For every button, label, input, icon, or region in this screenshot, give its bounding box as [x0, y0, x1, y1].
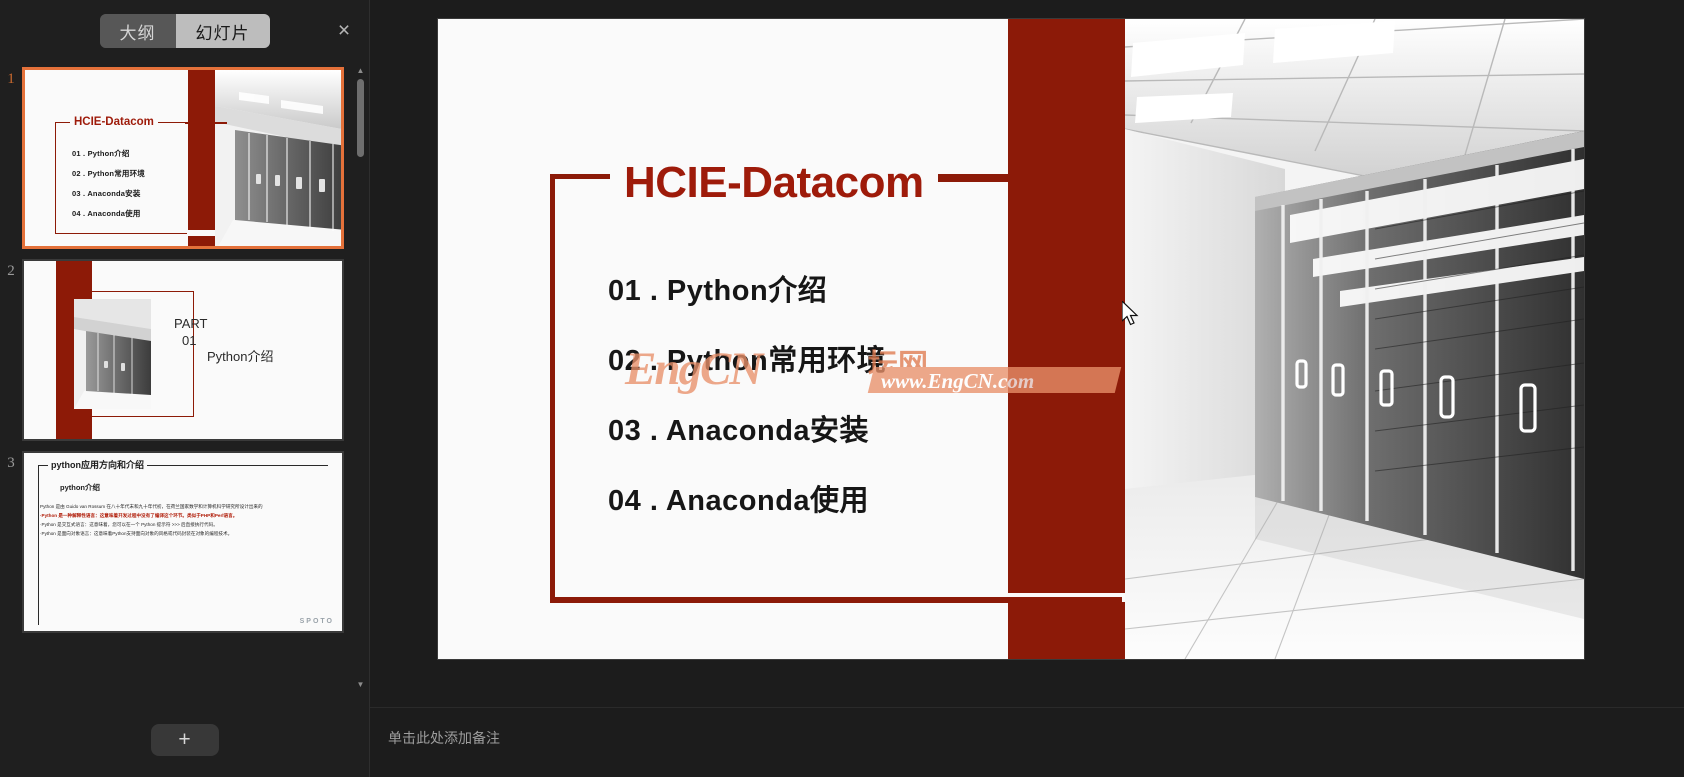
add-slide-button[interactable]: +: [151, 724, 219, 756]
accent-band: [188, 70, 215, 230]
slide-editor-area: HCIE-Datacom 01 . Python介绍 02 . Python常用…: [370, 0, 1684, 777]
scroll-down-icon[interactable]: ▼: [356, 680, 365, 689]
thumbnail-scrollbar[interactable]: ▲ ▼: [356, 66, 365, 689]
notes-pane[interactable]: 单击此处添加备注: [370, 707, 1684, 777]
notes-placeholder[interactable]: 单击此处添加备注: [388, 728, 500, 748]
thumb-agenda-item: 03 . Anaconda安装: [72, 188, 145, 199]
server-room-photo: [1125, 19, 1584, 659]
presentation-editor: 大纲 幻灯片 × 1: [0, 0, 1684, 777]
tab-slides[interactable]: 幻灯片: [176, 14, 270, 48]
thumb-agenda-item: 01 . Python介绍: [72, 148, 145, 159]
close-icon[interactable]: ×: [332, 20, 356, 44]
accent-band-lower: [188, 236, 215, 249]
agenda-item-4[interactable]: 04 . Anaconda使用: [608, 477, 886, 519]
panel-header: 大纲 幻灯片 ×: [0, 0, 369, 62]
thumb-subtitle-3: python介绍: [60, 482, 100, 493]
accent-band-top: [1008, 19, 1125, 593]
slide-preview-2[interactable]: PART 01 Python介绍: [22, 259, 344, 441]
title-rule: [159, 465, 327, 466]
scroll-up-icon[interactable]: ▲: [356, 66, 365, 75]
thumb-title-1: HCIE-Datacom: [70, 116, 158, 128]
thumb-part-subtitle: Python介绍: [207, 346, 273, 365]
agenda-item-1[interactable]: 01 . Python介绍: [608, 267, 886, 309]
title-rule: [925, 177, 1025, 182]
scrollbar-thumb[interactable]: [357, 79, 364, 157]
thumb-agenda-item: 04 . Anaconda使用: [72, 208, 145, 219]
thumb-body-3: Python 是由 Guido van Rossum 在八十年代末和九十年代初，…: [40, 503, 336, 539]
thumb-part-number: 01: [182, 333, 196, 348]
agenda-list[interactable]: 01 . Python介绍 02 . Python常用环境 03 . Anaco…: [608, 267, 886, 547]
slide-preview-1[interactable]: HCIE-Datacom 01 . Python介绍 02 . Python常用…: [22, 67, 344, 249]
server-room-photo-thumb: [215, 70, 344, 249]
add-slide-area: +: [0, 702, 369, 777]
slide-number-3: 3: [0, 451, 22, 472]
server-room-photo-thumb: [74, 299, 151, 409]
tab-outline[interactable]: 大纲: [100, 14, 176, 48]
slide-canvas[interactable]: HCIE-Datacom 01 . Python介绍 02 . Python常用…: [438, 19, 1584, 659]
slide-panel: 大纲 幻灯片 × 1: [0, 0, 370, 777]
thumb-paragraph: ·Python 是交互式语言：这意味着，您可以在一个 Python 提示符 >>…: [40, 521, 336, 528]
agenda-item-3[interactable]: 03 . Anaconda安装: [608, 407, 886, 449]
thumb-agenda-1: 01 . Python介绍 02 . Python常用环境 03 . Anaco…: [72, 148, 145, 228]
slide-thumbnail-1[interactable]: 1: [0, 62, 369, 254]
brand-logo: SPOTO: [300, 618, 334, 625]
view-mode-toggle[interactable]: 大纲 幻灯片: [100, 14, 270, 48]
slide-number-2: 2: [0, 259, 22, 280]
accent-band-bottom: [1008, 602, 1125, 659]
title-rule: [185, 122, 227, 124]
thumb-agenda-item: 02 . Python常用环境: [72, 168, 145, 179]
agenda-item-2[interactable]: 02 . Python常用环境: [608, 337, 886, 379]
slide-title[interactable]: HCIE-Datacom: [610, 158, 938, 208]
slide-thumbnail-3[interactable]: 3 python应用方向和介绍 python介绍 Python 是由 Guido…: [0, 446, 369, 638]
slide-thumbnail-2[interactable]: 2: [0, 254, 369, 446]
thumb-paragraph: ·Python 是一种解释性语言：这意味着开发过程中没有了编译这个环节。类似于P…: [40, 512, 336, 519]
thumb-paragraph: ·Python 是面向对象语言：这意味着Python支持面向对象的风格或代码封装…: [40, 530, 336, 537]
thumb-paragraph: Python 是由 Guido van Rossum 在八十年代末和九十年代初，…: [40, 503, 336, 510]
thumb-part-label: PART: [174, 316, 207, 331]
slide-thumbnail-list[interactable]: 1: [0, 62, 369, 702]
slide-number-1: 1: [0, 67, 22, 88]
thumb-title-3: python应用方向和介绍: [48, 458, 147, 471]
slide-preview-3[interactable]: python应用方向和介绍 python介绍 Python 是由 Guido v…: [22, 451, 344, 633]
